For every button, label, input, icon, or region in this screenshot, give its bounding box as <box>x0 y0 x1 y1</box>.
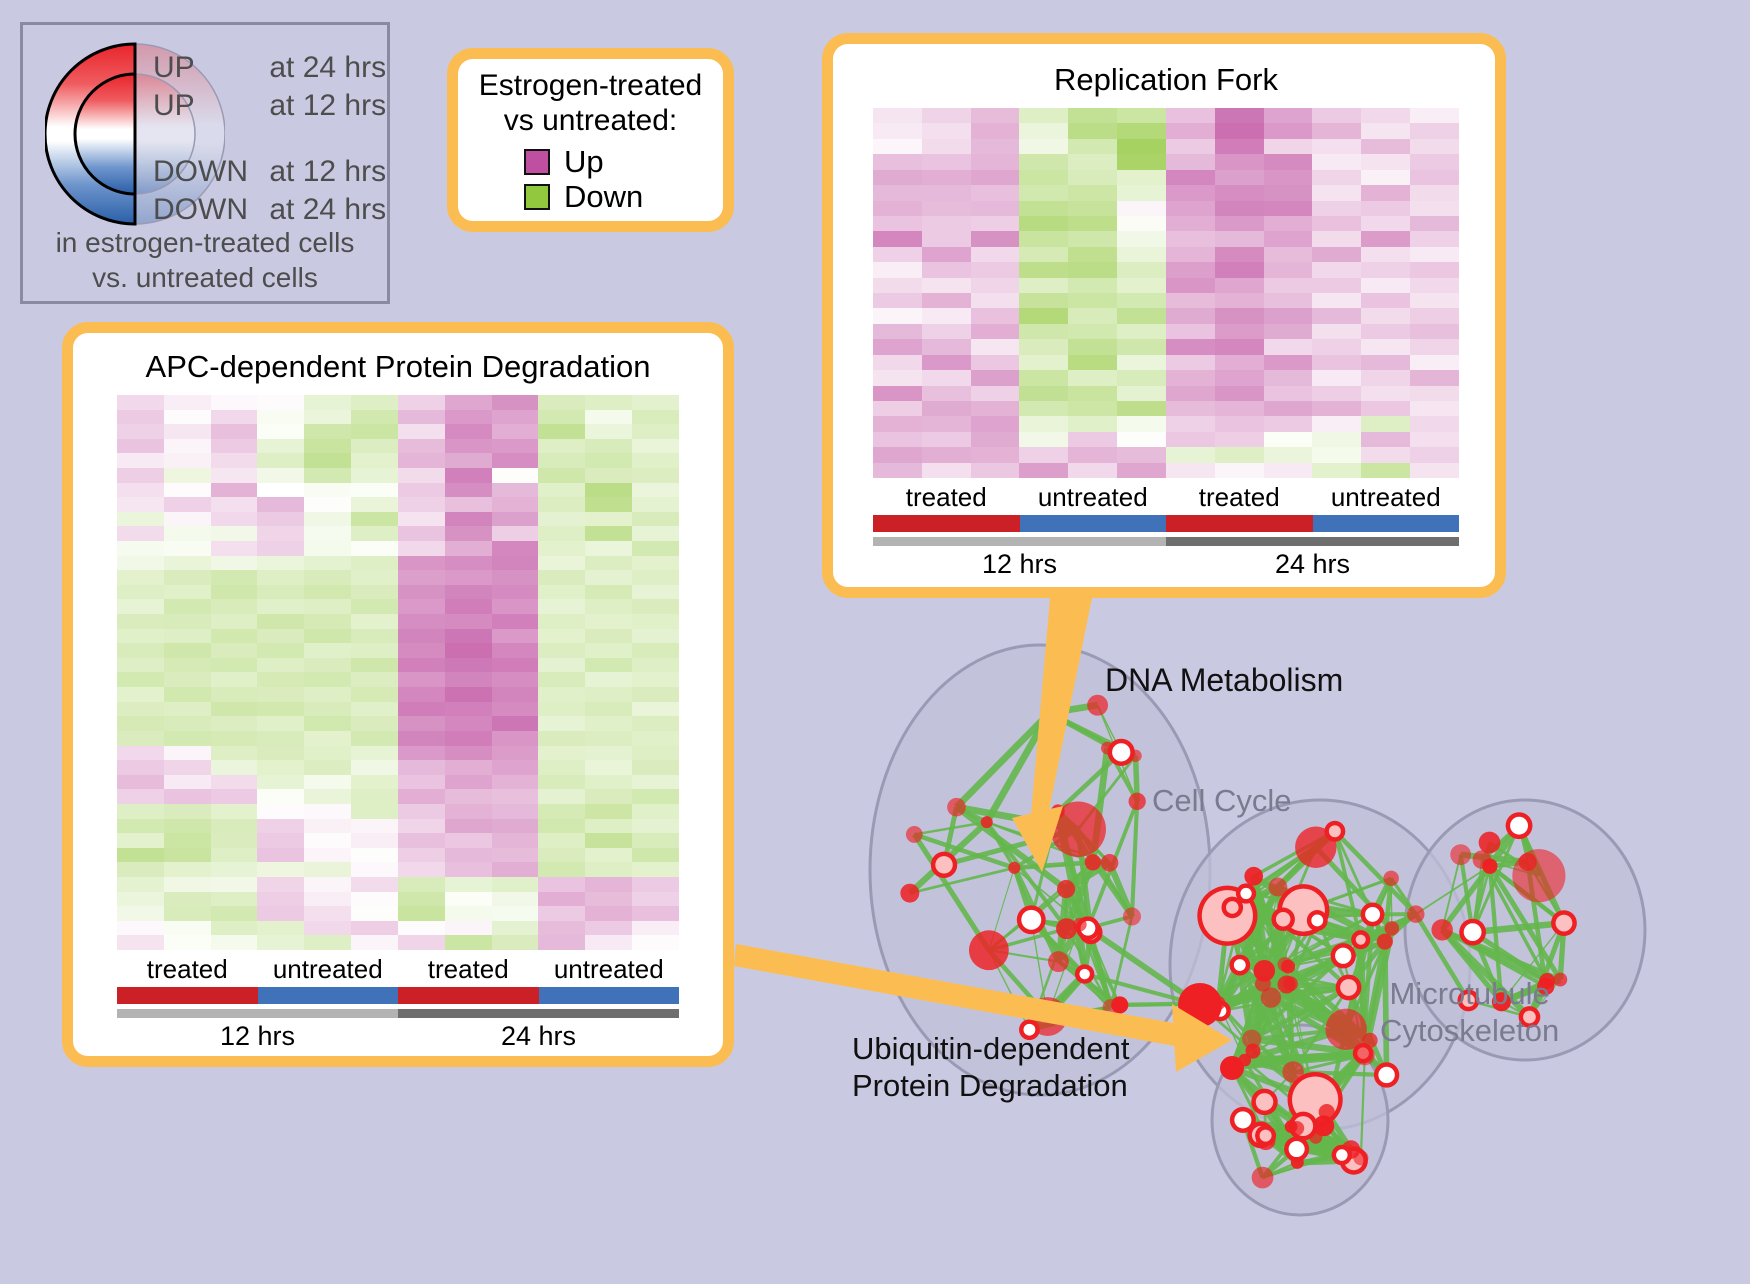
sample-labels-apc: treateduntreatedtreateduntreated <box>117 954 679 985</box>
network-node <box>1123 907 1141 925</box>
heatmap-cell <box>445 716 492 731</box>
heatmap-cell <box>1117 231 1166 246</box>
heatmap-cell <box>922 231 971 246</box>
heatmap-cell <box>398 702 445 717</box>
heatmap-cell <box>538 453 585 468</box>
heatmap-cell <box>538 512 585 527</box>
heatmap-cell <box>1068 324 1117 339</box>
heatmap-cell <box>351 570 398 585</box>
heatmap-cell <box>1410 278 1459 293</box>
heatmap-cell <box>585 526 632 541</box>
network-node <box>1519 853 1537 871</box>
heatmap-cell <box>538 658 585 673</box>
heatmap-cell <box>398 877 445 892</box>
heatmap-cell <box>398 468 445 483</box>
heatmap-cell <box>304 629 351 644</box>
heatmap-cell <box>1312 170 1361 185</box>
heatmap-cell <box>1019 447 1068 462</box>
heatmap-cell <box>1264 139 1313 154</box>
heatmap-cell <box>257 483 304 498</box>
heatmap-cell <box>1361 370 1410 385</box>
heatmap-cell <box>1312 463 1361 478</box>
key-label-up-24: UP <box>153 51 261 85</box>
heatmap-cell <box>257 789 304 804</box>
heatmap-cell <box>1264 339 1313 354</box>
heatmap-cell <box>257 819 304 834</box>
heatmap-cell <box>304 848 351 863</box>
network-node <box>1311 915 1323 927</box>
heatmap-cell <box>1312 447 1361 462</box>
heatmap-cell <box>257 526 304 541</box>
heatmap-cell <box>351 614 398 629</box>
heatmap-cell <box>492 716 539 731</box>
heatmap-cell <box>1019 247 1068 262</box>
heatmap-cell <box>117 789 164 804</box>
network-node <box>1234 1111 1251 1128</box>
heatmap-cell <box>304 819 351 834</box>
treatment-bar-segment <box>1313 515 1460 532</box>
heatmap-cell <box>398 731 445 746</box>
heatmap-cell <box>351 716 398 731</box>
heatmap-cell <box>585 862 632 877</box>
heatmap-cell <box>538 906 585 921</box>
heatmap-cell <box>304 410 351 425</box>
heatmap-cell <box>1019 293 1068 308</box>
treatment-bar-apc <box>117 987 679 1004</box>
heatmap-cell <box>1264 201 1313 216</box>
heatmap-cell <box>1410 386 1459 401</box>
heatmap-cell <box>211 819 258 834</box>
heatmap-cell <box>257 570 304 585</box>
heatmap-cell <box>117 658 164 673</box>
heatmap-cell <box>164 819 211 834</box>
heatmap-cell <box>257 672 304 687</box>
heatmap-cell <box>257 424 304 439</box>
axis-replication-fork: treateduntreatedtreateduntreated 12 hrs2… <box>873 482 1459 580</box>
heatmap-cell <box>117 687 164 702</box>
heatmap-cell <box>1410 139 1459 154</box>
network-node <box>1356 935 1366 945</box>
heatmap-cell <box>1166 324 1215 339</box>
heatmap-cell <box>873 293 922 308</box>
key-time-down-12: at 12 hrs <box>269 155 386 188</box>
heatmap-cell <box>538 789 585 804</box>
heatmap-cell <box>538 439 585 454</box>
heatmap-cell <box>873 447 922 462</box>
heatmap-cell <box>1312 231 1361 246</box>
heatmap-cell <box>351 410 398 425</box>
heatmap-cell <box>585 760 632 775</box>
heatmap-cell <box>164 702 211 717</box>
heatmap-cell <box>971 324 1020 339</box>
heatmap-cell <box>1215 262 1264 277</box>
key-time-up-12: at 12 hrs <box>269 89 386 122</box>
heatmap-cell <box>117 512 164 527</box>
heatmap-cell <box>922 463 971 478</box>
heatmap-cell <box>351 453 398 468</box>
heatmap-cell <box>1019 339 1068 354</box>
heatmap-cell <box>538 833 585 848</box>
heatmap-cell <box>304 804 351 819</box>
panel-title-apc: APC-dependent Protein Degradation <box>117 349 679 385</box>
heatmap-cell <box>585 819 632 834</box>
heatmap-cell <box>445 643 492 658</box>
heatmap-cell <box>398 819 445 834</box>
heatmap-cell <box>1312 355 1361 370</box>
heatmap-cell <box>1264 463 1313 478</box>
heatmap-cell <box>492 643 539 658</box>
heatmap-cell <box>304 643 351 658</box>
heatmap-cell <box>117 862 164 877</box>
heatmap-cell <box>445 585 492 600</box>
heatmap-cell <box>873 216 922 231</box>
time-labels-apc: 12 hrs24 hrs <box>117 1021 679 1052</box>
heatmap-cell <box>1312 185 1361 200</box>
heatmap-cell <box>1068 123 1117 138</box>
network-node <box>1079 969 1089 979</box>
heatmap-cell <box>398 395 445 410</box>
legend-swatch-down <box>524 184 550 210</box>
heatmap-cell <box>398 906 445 921</box>
network-node <box>1450 844 1471 865</box>
network-node <box>1261 987 1281 1007</box>
heatmap-cell <box>164 483 211 498</box>
heatmap-cell <box>922 262 971 277</box>
heatmap-cell <box>1264 447 1313 462</box>
heatmap-cell <box>164 585 211 600</box>
heatmap-cell <box>164 804 211 819</box>
heatmap-cell <box>922 185 971 200</box>
heatmap-cell <box>304 687 351 702</box>
heatmap-cell <box>445 410 492 425</box>
heatmap-cell <box>585 453 632 468</box>
heatmap-cell <box>398 921 445 936</box>
heatmap-cell <box>257 687 304 702</box>
heatmap-cell <box>632 746 679 761</box>
heatmap-cell <box>1410 123 1459 138</box>
heatmap-cell <box>164 892 211 907</box>
heatmap-cell <box>117 585 164 600</box>
heatmap-cell <box>585 410 632 425</box>
heatmap-cell <box>1312 370 1361 385</box>
heatmap-cell <box>971 432 1020 447</box>
heatmap-cell <box>164 672 211 687</box>
network-node <box>969 930 1009 970</box>
heatmap-cell <box>971 339 1020 354</box>
heatmap-cell <box>538 395 585 410</box>
network-node <box>1336 1149 1347 1160</box>
heatmap-cell <box>351 877 398 892</box>
heatmap-cell <box>1068 170 1117 185</box>
heatmap-cell <box>398 775 445 790</box>
heatmap-cell <box>117 541 164 556</box>
heatmap-cell <box>117 702 164 717</box>
heatmap-cell <box>398 599 445 614</box>
heatmap-cell <box>585 789 632 804</box>
heatmap-cell <box>538 877 585 892</box>
heatmap-cell <box>1361 278 1410 293</box>
key-time-up-24: at 24 hrs <box>269 51 386 84</box>
heatmap-cell <box>632 804 679 819</box>
heatmap-cell <box>211 702 258 717</box>
heatmap-cell <box>873 416 922 431</box>
heatmap-cell <box>398 439 445 454</box>
heatmap-cell <box>971 355 1020 370</box>
heatmap-cell <box>304 702 351 717</box>
heatmap-cell <box>398 410 445 425</box>
heatmap-cell <box>1117 432 1166 447</box>
heatmap-cell <box>492 468 539 483</box>
heatmap-cell <box>1068 308 1117 323</box>
heatmap-cell <box>922 324 971 339</box>
heatmap-cell <box>257 702 304 717</box>
heatmap-cell <box>538 731 585 746</box>
heatmap-cell <box>117 526 164 541</box>
heatmap-cell <box>164 775 211 790</box>
heatmap-cell <box>445 775 492 790</box>
heatmap-cell <box>1410 108 1459 123</box>
heatmap-cell <box>1068 154 1117 169</box>
heatmap-cell <box>585 892 632 907</box>
heatmap-cell <box>971 386 1020 401</box>
heatmap-cell <box>351 702 398 717</box>
heatmap-cell <box>492 921 539 936</box>
heatmap-cell <box>1117 154 1166 169</box>
heatmap-cell <box>304 921 351 936</box>
heatmap-cell <box>351 483 398 498</box>
heatmap-cell <box>492 906 539 921</box>
heatmap-cell <box>538 526 585 541</box>
heatmap-cell <box>492 702 539 717</box>
heatmap-cell <box>1312 416 1361 431</box>
heatmap-cell <box>1166 447 1215 462</box>
heatmap-cell <box>1215 278 1264 293</box>
heatmap-cell <box>1215 416 1264 431</box>
heatmap-cell <box>445 877 492 892</box>
heatmap-cell <box>304 731 351 746</box>
heatmap-cell <box>971 308 1020 323</box>
heatmap-cell <box>351 862 398 877</box>
heatmap-cell <box>117 483 164 498</box>
heatmap-cell <box>1215 339 1264 354</box>
panel-replication-fork: Replication Fork treateduntreatedtreated… <box>822 33 1506 598</box>
heatmap-cell <box>538 746 585 761</box>
heatmap-cell <box>585 935 632 950</box>
heatmap-cell <box>304 526 351 541</box>
heatmap-cell <box>1068 108 1117 123</box>
network-node <box>1240 888 1251 899</box>
legend-title-line2: vs untreated: <box>458 104 723 139</box>
heatmap-cell <box>398 570 445 585</box>
heatmap-cell <box>1117 324 1166 339</box>
heatmap-cell <box>1361 154 1410 169</box>
heatmap-cell <box>922 293 971 308</box>
time-bar-segment <box>1166 537 1459 546</box>
heatmap-cell <box>445 804 492 819</box>
heatmap-cell <box>873 324 922 339</box>
heatmap-cell <box>492 833 539 848</box>
heatmap-cell <box>1019 432 1068 447</box>
heatmap-cell <box>1215 401 1264 416</box>
heatmap-cell <box>585 702 632 717</box>
heatmap-cell <box>1361 123 1410 138</box>
heatmap-cell <box>445 614 492 629</box>
heatmap-cell <box>351 643 398 658</box>
heatmap-cell <box>164 643 211 658</box>
network-node <box>1226 901 1239 914</box>
time-bar-segment <box>873 537 1166 546</box>
heatmap-cell <box>351 935 398 950</box>
heatmap-cell <box>398 585 445 600</box>
heatmap-cell <box>1410 324 1459 339</box>
heatmap-cell <box>632 570 679 585</box>
heatmap-cell <box>971 201 1020 216</box>
heatmap-cell <box>445 833 492 848</box>
heatmap-cell <box>1361 231 1410 246</box>
heatmap-cell <box>1361 293 1410 308</box>
heatmap-cell <box>585 672 632 687</box>
heatmap-cell <box>445 760 492 775</box>
heatmap-cell <box>632 512 679 527</box>
heatmap-cell <box>257 731 304 746</box>
heatmap-cell <box>1166 386 1215 401</box>
heatmap-cell <box>304 556 351 571</box>
heatmap-cell <box>492 497 539 512</box>
heatmap-cell <box>492 819 539 834</box>
heatmap-cell <box>1361 108 1410 123</box>
heatmap-cell <box>211 410 258 425</box>
heatmap-cell <box>1312 432 1361 447</box>
heatmap-cell <box>585 468 632 483</box>
heatmap-cell <box>257 643 304 658</box>
heatmap-cell <box>351 789 398 804</box>
color-key-footer-line1: in estrogen-treated cells <box>23 225 387 260</box>
network-node <box>1234 959 1246 971</box>
heatmap-cell <box>257 833 304 848</box>
heatmap-cell <box>164 424 211 439</box>
heatmap-cell <box>1410 447 1459 462</box>
heatmap-cell <box>1312 339 1361 354</box>
heatmap-cell <box>1117 339 1166 354</box>
heatmap-cell <box>211 424 258 439</box>
heatmap-cell <box>257 395 304 410</box>
heatmap-cell <box>445 395 492 410</box>
heatmap-cell <box>117 672 164 687</box>
network-node <box>1365 907 1380 922</box>
heatmap-cell <box>1166 370 1215 385</box>
heatmap-cell <box>1312 247 1361 262</box>
sample-label: untreated <box>539 954 680 985</box>
heatmap-cell <box>351 556 398 571</box>
heatmap-cell <box>873 170 922 185</box>
heatmap-cell <box>585 497 632 512</box>
heatmap-cell <box>1215 231 1264 246</box>
heatmap-cell <box>1361 447 1410 462</box>
heatmap-cell <box>492 760 539 775</box>
heatmap-cell <box>585 921 632 936</box>
heatmap-cell <box>445 921 492 936</box>
heatmap-cell <box>1361 386 1410 401</box>
heatmap-cell <box>398 629 445 644</box>
heatmap-cell <box>164 687 211 702</box>
heatmap-replication-fork <box>873 108 1459 478</box>
heatmap-cell <box>398 935 445 950</box>
heatmap-cell <box>873 247 922 262</box>
network-node <box>1289 1141 1305 1157</box>
heatmap-cell <box>304 906 351 921</box>
heatmap-cell <box>538 585 585 600</box>
network-node <box>1103 999 1119 1015</box>
network-node <box>1256 1093 1273 1110</box>
network-node <box>1129 793 1146 810</box>
color-key-footer-line2: vs. untreated cells <box>23 260 387 295</box>
heatmap-cell <box>257 877 304 892</box>
heatmap-cell <box>1410 201 1459 216</box>
heatmap-cell <box>164 716 211 731</box>
heatmap-cell <box>351 629 398 644</box>
heatmap-cell <box>117 804 164 819</box>
treatment-bar-segment <box>1020 515 1167 532</box>
heatmap-cell <box>164 746 211 761</box>
heatmap-cell <box>398 848 445 863</box>
heatmap-cell <box>211 906 258 921</box>
heatmap-cell <box>538 570 585 585</box>
heatmap-cell <box>492 512 539 527</box>
heatmap-cell <box>1410 401 1459 416</box>
network-node <box>1008 862 1020 874</box>
heatmap-cell <box>445 746 492 761</box>
heatmap-cell <box>1166 293 1215 308</box>
heatmap-apc <box>117 395 679 950</box>
heatmap-cell <box>873 278 922 293</box>
heatmap-cell <box>585 877 632 892</box>
heatmap-cell <box>117 424 164 439</box>
heatmap-cell <box>351 526 398 541</box>
figure-canvas: UP at 24 hrs UP at 12 hrs DOWN at 12 hrs… <box>0 0 1750 1279</box>
heatmap-cell <box>304 599 351 614</box>
heatmap-cell <box>445 892 492 907</box>
network-node <box>935 856 952 873</box>
heatmap-cell <box>1361 185 1410 200</box>
heatmap-cell <box>211 672 258 687</box>
heatmap-cell <box>922 386 971 401</box>
heatmap-cell <box>873 201 922 216</box>
heatmap-cell <box>257 599 304 614</box>
heatmap-cell <box>538 410 585 425</box>
heatmap-cell <box>1264 262 1313 277</box>
network-node <box>1269 878 1288 897</box>
heatmap-cell <box>922 432 971 447</box>
heatmap-cell <box>1166 432 1215 447</box>
heatmap-cell <box>585 658 632 673</box>
treatment-bar-segment <box>539 987 680 1004</box>
heatmap-cell <box>398 862 445 877</box>
network-node <box>1042 705 1057 720</box>
heatmap-cell <box>1019 154 1068 169</box>
heatmap-cell <box>585 746 632 761</box>
network-node <box>1355 1045 1375 1065</box>
heatmap-cell <box>873 463 922 478</box>
heatmap-cell <box>164 526 211 541</box>
heatmap-cell <box>971 154 1020 169</box>
heatmap-cell <box>164 497 211 512</box>
heatmap-cell <box>1166 154 1215 169</box>
heatmap-cell <box>922 154 971 169</box>
heatmap-cell <box>164 439 211 454</box>
heatmap-cell <box>632 410 679 425</box>
heatmap-cell <box>1264 355 1313 370</box>
heatmap-cell <box>257 716 304 731</box>
